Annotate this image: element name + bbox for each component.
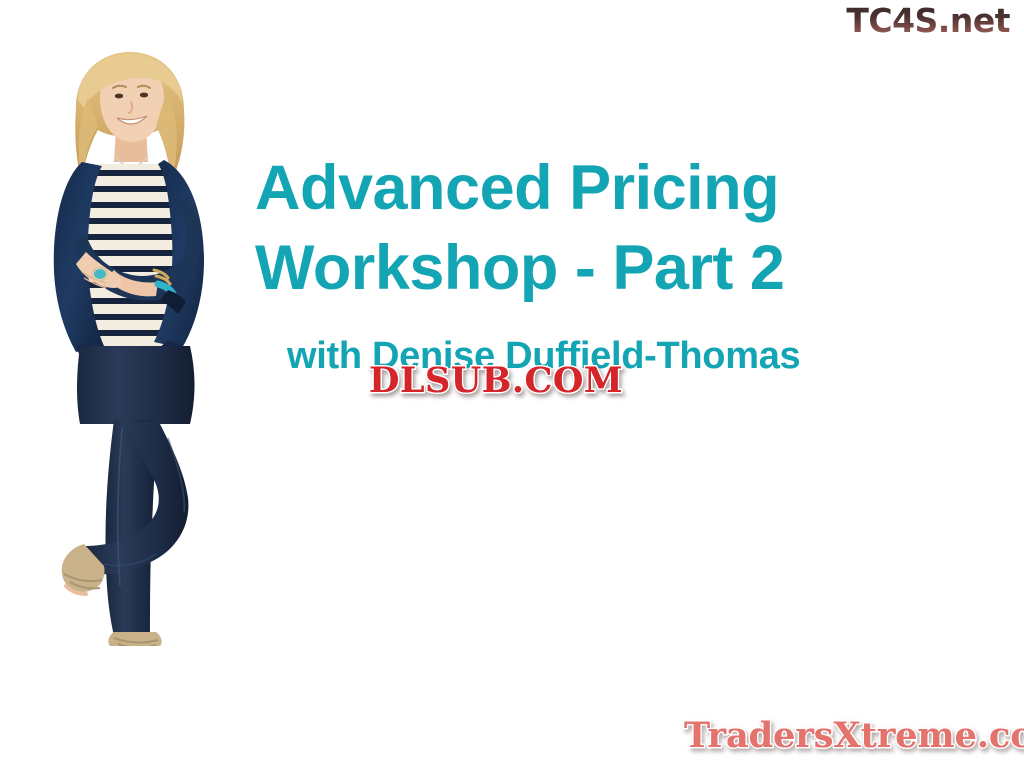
dlsub-watermark-fill: DLSUB.COM [369, 361, 623, 401]
slide-canvas: TC4S.net TC4S.net [0, 0, 1024, 768]
page-title: Advanced Pricing Workshop - Part 2 [255, 148, 875, 308]
presenter-photo [18, 46, 258, 646]
tc4s-watermark: TC4S.net [846, 4, 1010, 37]
title-line-1: Advanced Pricing [255, 148, 875, 228]
tradersxtreme-watermark-fill: TradersXtreme.com [684, 716, 1024, 756]
title-line-2: Workshop - Part 2 [255, 228, 875, 308]
